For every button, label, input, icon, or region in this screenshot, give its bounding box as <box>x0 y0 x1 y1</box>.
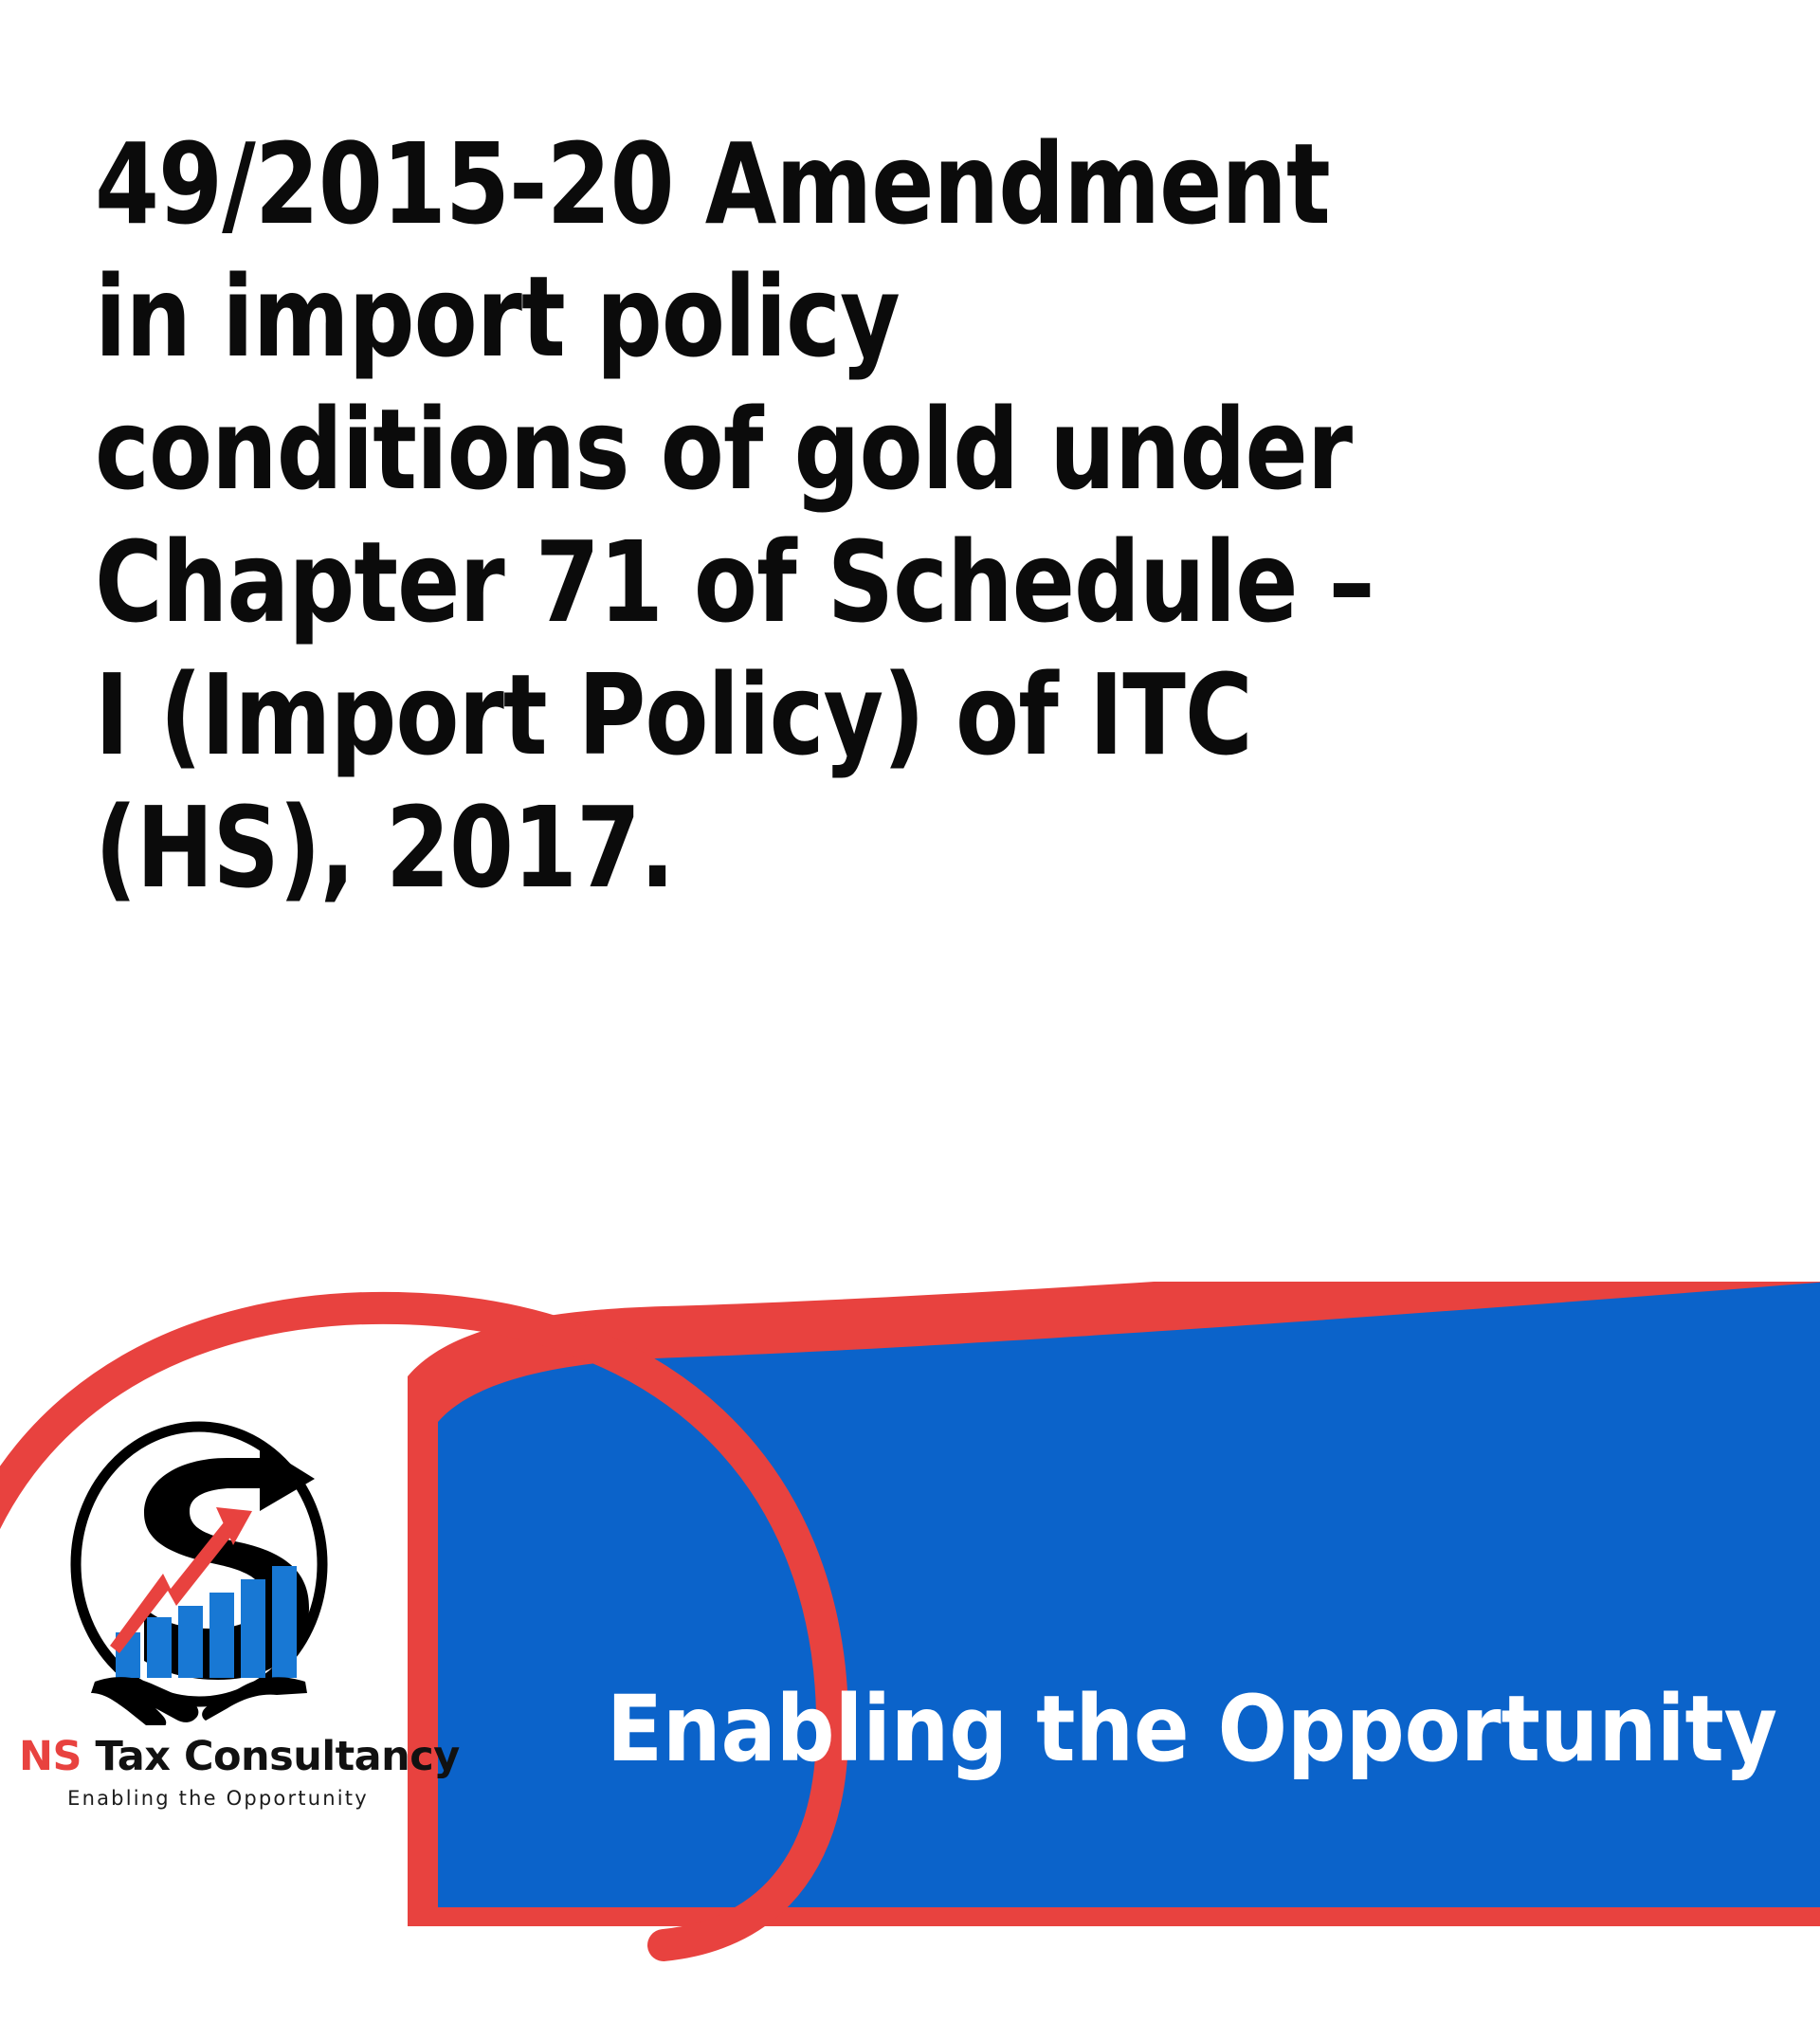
logo-mark-svg <box>57 1412 341 1725</box>
logo-tagline: Enabling the Opportunity <box>19 1784 417 1812</box>
logo-brand-prefix: NS <box>19 1733 82 1780</box>
headline-line-2: in import policy <box>95 250 1577 383</box>
headline-line-6: (HS), 2017. <box>95 781 1577 914</box>
logo-mark <box>57 1412 341 1725</box>
logo-brand-rest: Tax Consultancy <box>82 1733 460 1780</box>
headline-line-5: I (Import Policy) of ITC <box>95 648 1577 781</box>
logo[interactable]: NS Tax Consultancy Enabling the Opportun… <box>19 1412 417 1896</box>
page-title: 49/2015-20 Amendment in import policy co… <box>95 118 1706 914</box>
headline-line-3: conditions of gold under <box>95 383 1577 516</box>
headline-line-4: Chapter 71 of Schedule – <box>95 516 1577 648</box>
logo-wordmark: NS Tax Consultancy Enabling the Opportun… <box>19 1733 417 1812</box>
logo-brand-name: NS Tax Consultancy <box>19 1733 417 1780</box>
headline-line-1: 49/2015-20 Amendment <box>95 118 1577 250</box>
